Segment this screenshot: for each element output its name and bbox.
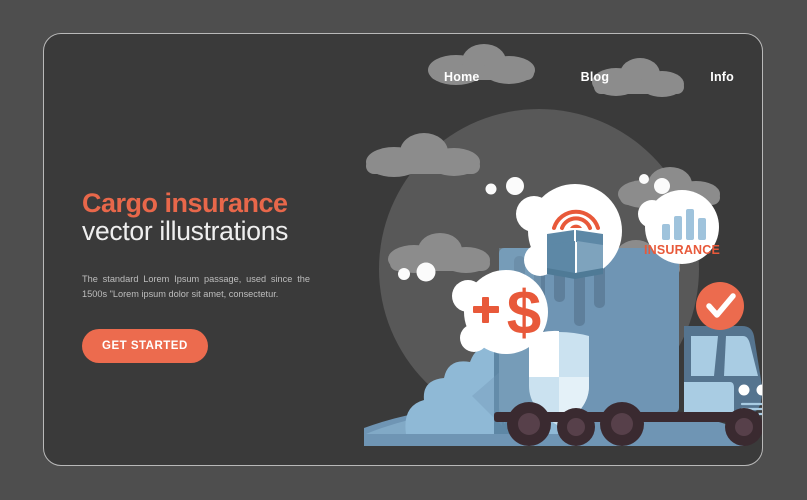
hero-copy-block: Cargo insurance vector illustrations The…	[82, 189, 357, 363]
truck-window-rear	[691, 336, 718, 376]
get-started-button[interactable]: GET STARTED	[82, 329, 208, 363]
dot-small-1	[486, 184, 497, 195]
truck-headlight-left	[739, 385, 750, 396]
dot-large-3	[417, 263, 436, 282]
landing-page-card: INSURANCE $	[43, 33, 763, 466]
package-signal-badge	[516, 184, 622, 279]
insurance-badge-label: INSURANCE	[644, 243, 720, 257]
top-navigation: Home Blog Info	[444, 70, 734, 84]
approved-check-badge	[696, 282, 744, 330]
dot-large-1	[506, 177, 524, 195]
nav-link-blog[interactable]: Blog	[581, 70, 610, 84]
check-badge-circle	[696, 282, 744, 330]
dot-small-3	[398, 268, 410, 280]
hero-illustration: INSURANCE $	[344, 34, 763, 466]
truck-door	[684, 382, 734, 413]
dot-large-2	[654, 178, 670, 194]
money-badge: $	[452, 270, 548, 354]
nav-link-info[interactable]: Info	[710, 70, 734, 84]
dot-small-2	[639, 174, 649, 184]
insurance-chart-badge: INSURANCE	[638, 190, 720, 264]
hero-body-text: The standard Lorem Ipsum passage, used s…	[82, 272, 310, 301]
page-title-secondary: vector illustrations	[82, 217, 357, 246]
screenshot-stage: INSURANCE $	[0, 0, 807, 500]
page-title-primary: Cargo insurance	[82, 189, 357, 217]
svg-text:$: $	[507, 279, 541, 348]
nav-link-home[interactable]: Home	[444, 70, 480, 84]
